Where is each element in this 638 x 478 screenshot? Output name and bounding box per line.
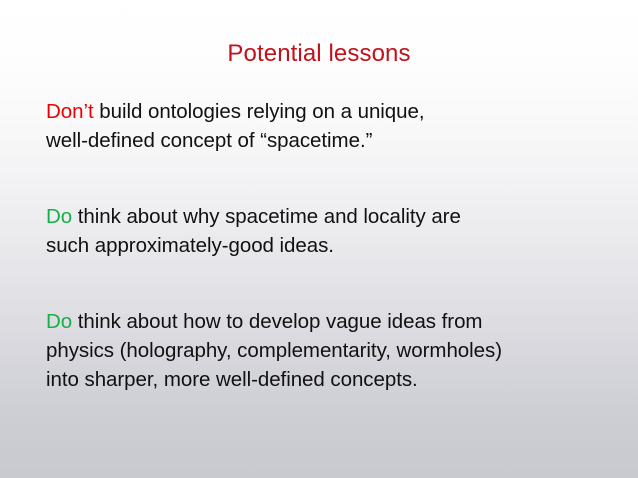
bullet-block-2-lead: Do — [46, 205, 72, 228]
bullet-block-3-line-2: physics (holography, complementarity, wo… — [46, 336, 602, 365]
bullet-block-1-line-1: Don’t build ontologies relying on a uniq… — [46, 97, 602, 126]
presentation-slide: Potential lessons Don’t build ontologies… — [0, 0, 638, 478]
bullet-block-2-line-1: Do think about why spacetime and localit… — [46, 202, 602, 231]
slide-title: Potential lessons — [0, 40, 638, 68]
bullet-block-3-line-3: into sharper, more well-defined concepts… — [46, 365, 602, 394]
bullet-block-2: Do think about why spacetime and localit… — [46, 202, 602, 260]
bullet-block-3: Do think about how to develop vague idea… — [46, 307, 602, 394]
bullet-block-3-line-1-text: think about how to develop vague ideas f… — [72, 310, 482, 333]
bullet-block-2-line-1-text: think about why spacetime and locality a… — [72, 205, 461, 228]
bullet-block-1-line-1-text: build ontologies relying on a unique, — [94, 100, 425, 123]
bullet-block-3-line-1: Do think about how to develop vague idea… — [46, 307, 602, 336]
bullet-block-1: Don’t build ontologies relying on a uniq… — [46, 97, 602, 155]
bullet-block-3-lead: Do — [46, 310, 72, 333]
bullet-block-2-line-2: such approximately-good ideas. — [46, 231, 602, 260]
bullet-block-1-lead: Don’t — [46, 100, 94, 123]
bullet-block-1-line-2: well-defined concept of “spacetime.” — [46, 126, 602, 155]
